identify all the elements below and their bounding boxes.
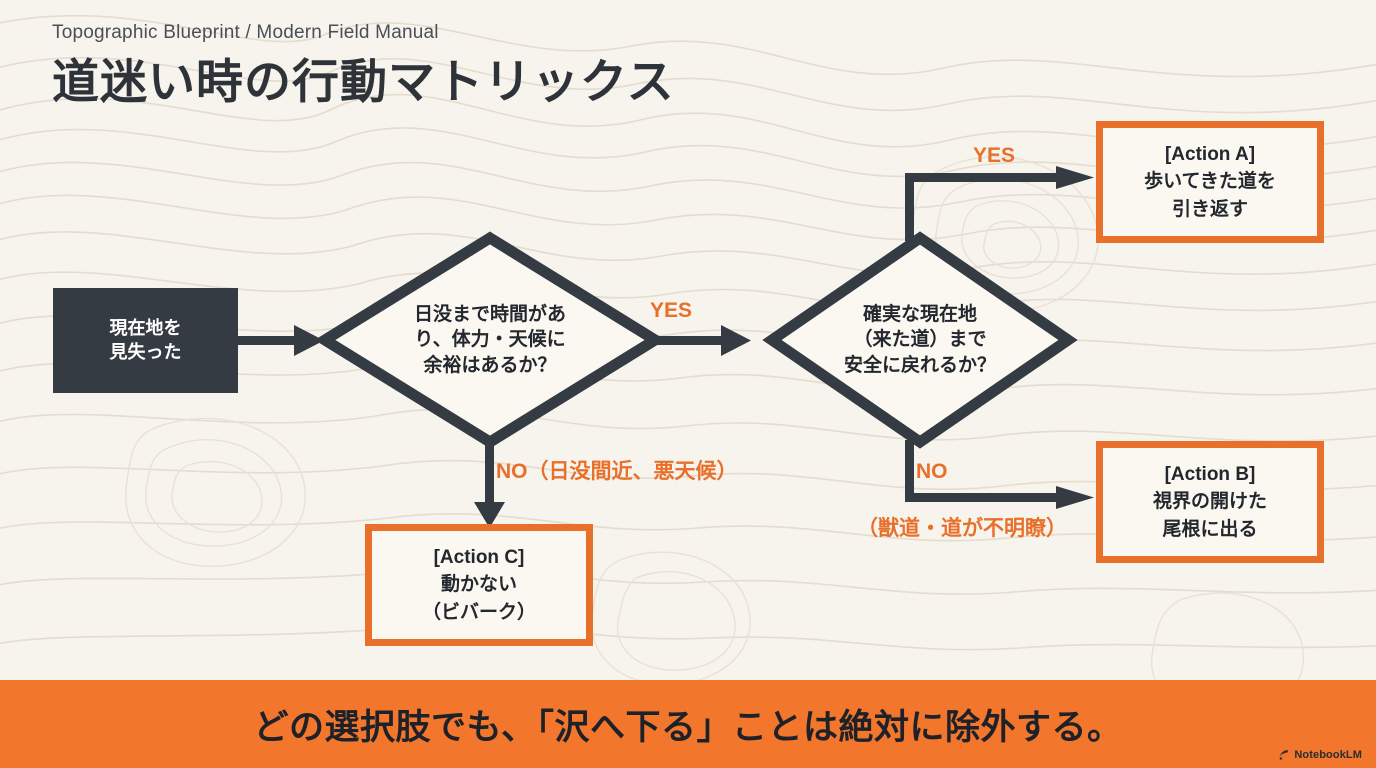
node-start[interactable]: 現在地を 見失った [53,288,238,393]
node-start-label: 現在地を 見失った [110,317,182,365]
edge-label-q1-no: NO（日没間近、悪天候） [496,459,738,485]
edge-q2-actionb-horizontal [905,493,1060,502]
header: Topographic Blueprint / Modern Field Man… [52,22,675,109]
edge-q1-actionc-shaft [485,442,494,504]
node-action-b-label: [Action B] 視界の開けた 尾根に出る [1153,461,1267,544]
edge-q2-actionb-vertical [905,440,914,502]
edge-q2-actionb-arrowhead [1056,486,1094,509]
slide-canvas: Topographic Blueprint / Modern Field Man… [0,0,1376,768]
edge-label-q1-yes: YES [650,298,692,324]
notebooklm-brand: NotebookLM [1277,748,1362,761]
node-action-a-label: [Action A] 歩いてきた道を 引き返す [1144,141,1276,224]
edge-q2-actiona-arrowhead [1056,166,1094,189]
edge-q2-actiona-horizontal [905,173,1060,182]
bottom-banner: どの選択肢でも、「沢へ下る」ことは絶対に除外する。 NotebookLM [0,680,1376,768]
node-question-2[interactable]: 確実な現在地 （来た道）まで 安全に戻れるか？ [775,275,1065,405]
node-action-a[interactable]: [Action A] 歩いてきた道を 引き返す [1096,121,1324,243]
node-question-2-label: 確実な現在地 （来た道）まで 安全に戻れるか？ [844,302,996,377]
node-question-1[interactable]: 日没まで時間があ り、体力・天候に 余裕はあるか？ [345,275,635,405]
node-action-c-label: [Action C] 動かない （ビバーク） [422,544,536,627]
edge-label-q2-no-primary: NO [916,459,948,485]
notebooklm-brand-label: NotebookLM [1294,749,1362,761]
notebooklm-logo-icon [1277,748,1290,761]
edge-label-q2-no-detail: （獣道・道が不明瞭） [857,516,1067,542]
page-title: 道迷い時の行動マトリックス [52,55,675,109]
subtitle: Topographic Blueprint / Modern Field Man… [52,22,675,45]
edge-q2-actiona-vertical [905,173,914,241]
node-action-c[interactable]: [Action C] 動かない （ビバーク） [365,524,593,646]
edge-start-q1-shaft [238,336,296,345]
edge-q1-q2-shaft [655,336,723,345]
edge-q1-q2-arrowhead [721,325,751,356]
node-action-b[interactable]: [Action B] 視界の開けた 尾根に出る [1096,441,1324,563]
node-question-1-label: 日没まで時間があ り、体力・天候に 余裕はあるか？ [414,302,566,377]
edge-label-q2-yes: YES [973,143,1015,169]
edge-start-q1-arrowhead [294,325,324,356]
banner-text: どの選択肢でも、「沢へ下る」ことは絶対に除外する。 [254,699,1123,750]
